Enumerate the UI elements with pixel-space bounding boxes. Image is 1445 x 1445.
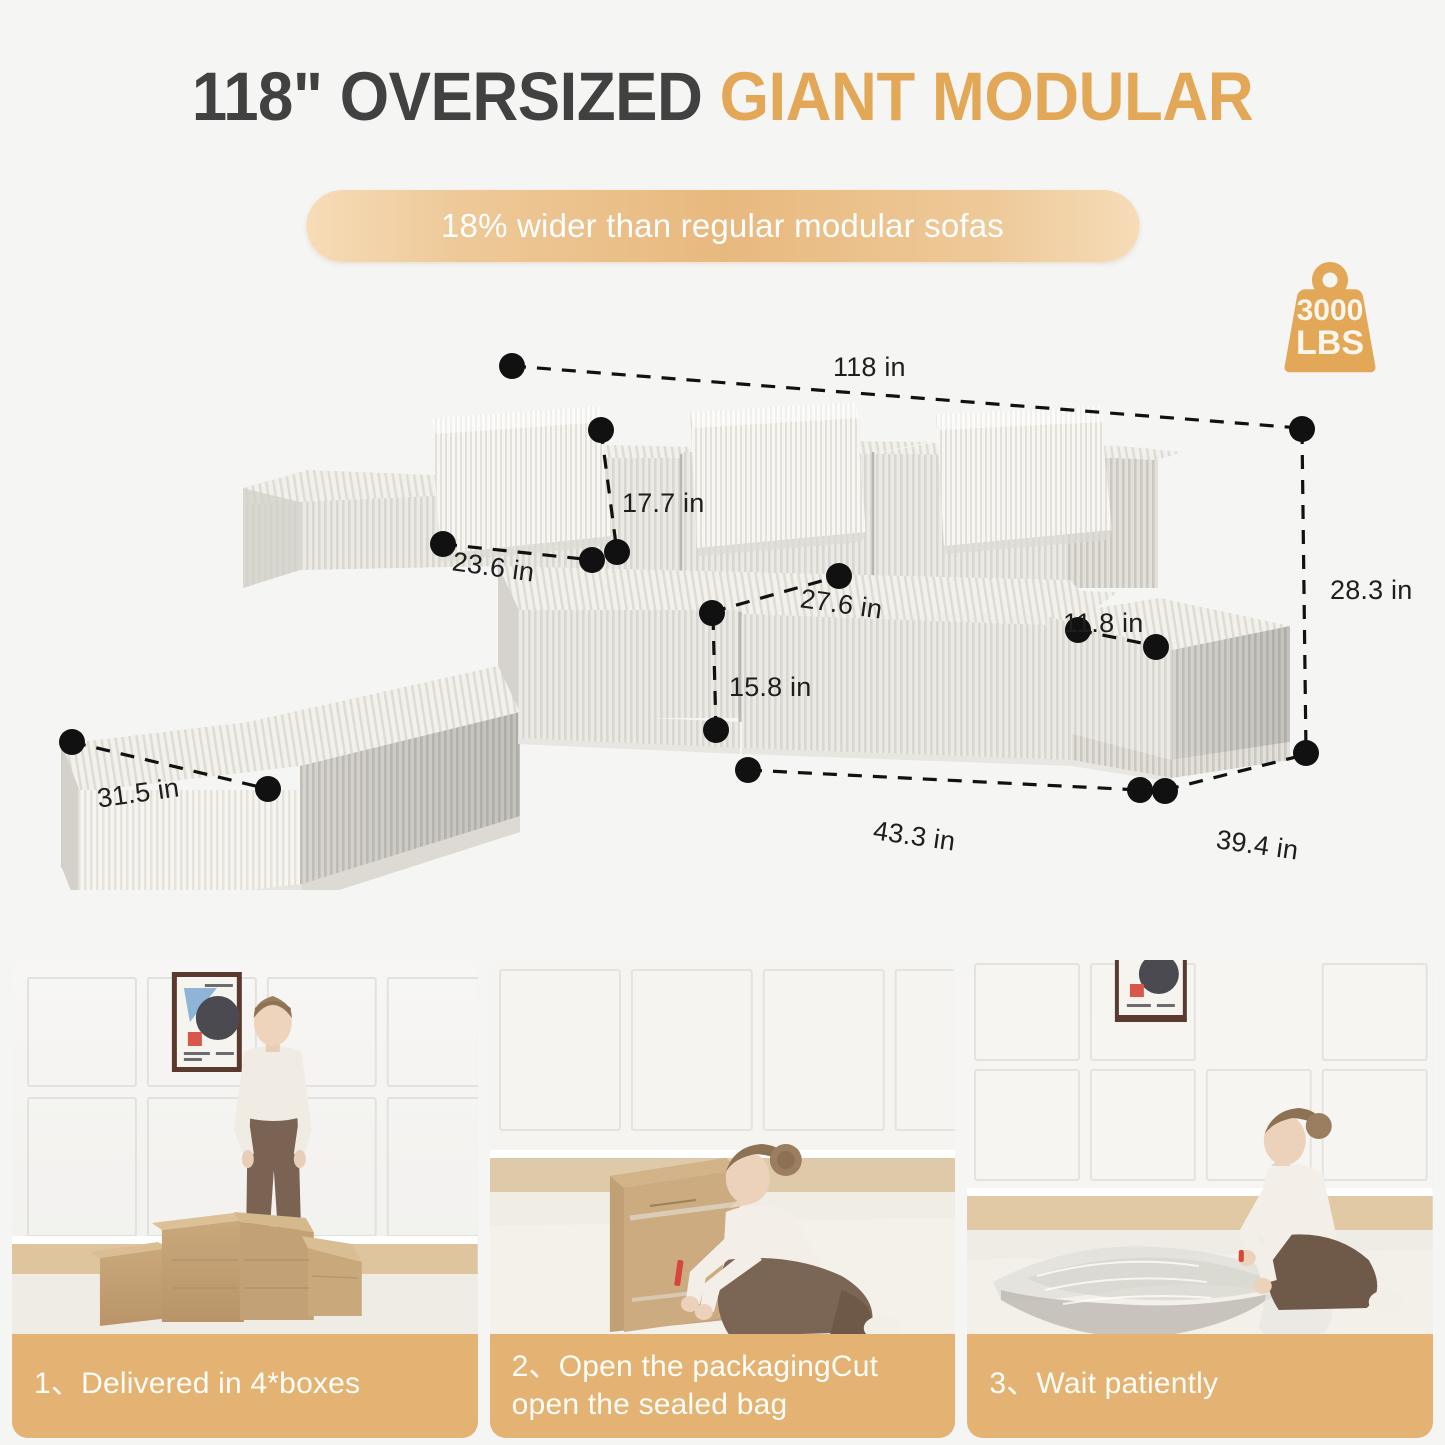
dimension-label-overall-width: 118 in	[833, 352, 906, 383]
photo-caption-unwrapping: 3、Wait patiently	[967, 1334, 1433, 1438]
photo-caption-delivery: 1、Delivered in 4*boxes	[12, 1334, 478, 1438]
page-title: 118" OVERSIZED GIANT MODULAR	[58, 62, 1387, 131]
page-title-accent: GIANT MODULAR	[720, 58, 1254, 135]
photo-card-unwrapping[interactable]: 3、Wait patiently	[967, 960, 1433, 1438]
photo-card-unboxing[interactable]: 2、Open the packagingCut open the sealed …	[490, 960, 956, 1438]
sofa-image	[0, 330, 1445, 890]
dimension-label-pillow-height: 17.7 in	[622, 488, 704, 519]
dimension-label-arm-width: 11.8 in	[1063, 608, 1143, 639]
photo-card-delivery[interactable]: 1、Delivered in 4*boxes	[12, 960, 478, 1438]
subtitle-text: 18% wider than regular modular sofas	[441, 207, 1004, 245]
page-title-dark: 118" OVERSIZED	[192, 58, 720, 135]
unboxing-steps-gallery: 1、Delivered in 4*boxes	[12, 960, 1433, 1438]
dimension-label-overall-height: 28.3 in	[1330, 575, 1412, 606]
subtitle-pill: 18% wider than regular modular sofas	[306, 190, 1139, 262]
photo-caption-unboxing: 2、Open the packagingCut open the sealed …	[490, 1334, 956, 1438]
product-infographic: 118" OVERSIZED GIANT MODULAR 18% wider t…	[0, 0, 1445, 1445]
dimension-label-seat-height: 15.8 in	[729, 672, 811, 703]
sofa-dimension-illustration: 118 in 17.7 in 23.6 in 27.6 in 11.8 in 2…	[0, 330, 1445, 890]
